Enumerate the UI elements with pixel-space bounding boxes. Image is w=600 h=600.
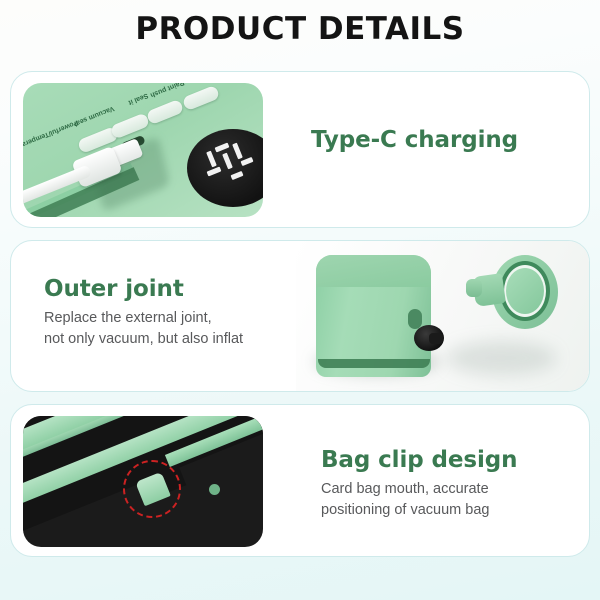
device-key-label-vacuum-seal: Vacuum seal xyxy=(73,105,115,127)
device-key-label-powerful-temperature: Powerful/Temperature xyxy=(23,119,79,153)
feature-description-line: positioning of vacuum bag xyxy=(321,500,517,521)
feature-heading: Outer joint xyxy=(44,276,243,302)
feature-heading: Bag clip design xyxy=(321,447,517,473)
device-key-label-seal-it: Seal it xyxy=(127,92,149,106)
feature-description-line: not only vacuum, but also inflat xyxy=(44,329,243,350)
product-image-bag-clip-design xyxy=(23,416,263,547)
pump-nozzle-stem xyxy=(429,333,443,344)
highlight-circle-icon xyxy=(123,460,181,518)
alignment-dot xyxy=(209,484,220,495)
external-joint-tip xyxy=(466,279,482,297)
device-key-seal-it xyxy=(146,99,185,125)
feature-heading: Type-C charging xyxy=(311,127,518,153)
feature-text-type-c-charging: Type-C charging xyxy=(311,127,518,153)
pump-air-inlet xyxy=(408,309,422,329)
feature-description-line: Replace the external joint, xyxy=(44,308,243,329)
device-display xyxy=(187,129,263,207)
pump-top-surface xyxy=(316,255,431,287)
external-joint-inner xyxy=(506,268,544,314)
pump-base-band xyxy=(318,359,430,368)
device-key-label-paint-push: Paint push xyxy=(149,83,185,98)
page-title: PRODUCT DETAILS xyxy=(0,11,600,47)
feature-panel-outer-joint: Outer joint Replace the external joint, … xyxy=(10,240,590,392)
device-key-paint-push xyxy=(182,85,221,111)
feature-description: Card bag mouth, accurate positioning of … xyxy=(321,479,517,521)
product-image-outer-joint xyxy=(296,241,590,392)
feature-description-line: Card bag mouth, accurate xyxy=(321,479,517,500)
device-key-vacuum-seal xyxy=(110,112,150,139)
joint-shadow xyxy=(446,341,556,375)
feature-panel-type-c-charging: Powerful/Temperature Vacuum seal Seal it… xyxy=(10,71,590,228)
feature-description: Replace the external joint, not only vac… xyxy=(44,308,243,350)
feature-text-bag-clip-design: Bag clip design Card bag mouth, accurate… xyxy=(321,447,517,521)
feature-panel-bag-clip-design: Bag clip design Card bag mouth, accurate… xyxy=(10,404,590,557)
feature-text-outer-joint: Outer joint Replace the external joint, … xyxy=(44,276,243,350)
product-image-type-c-charging: Powerful/Temperature Vacuum seal Seal it… xyxy=(23,83,263,217)
